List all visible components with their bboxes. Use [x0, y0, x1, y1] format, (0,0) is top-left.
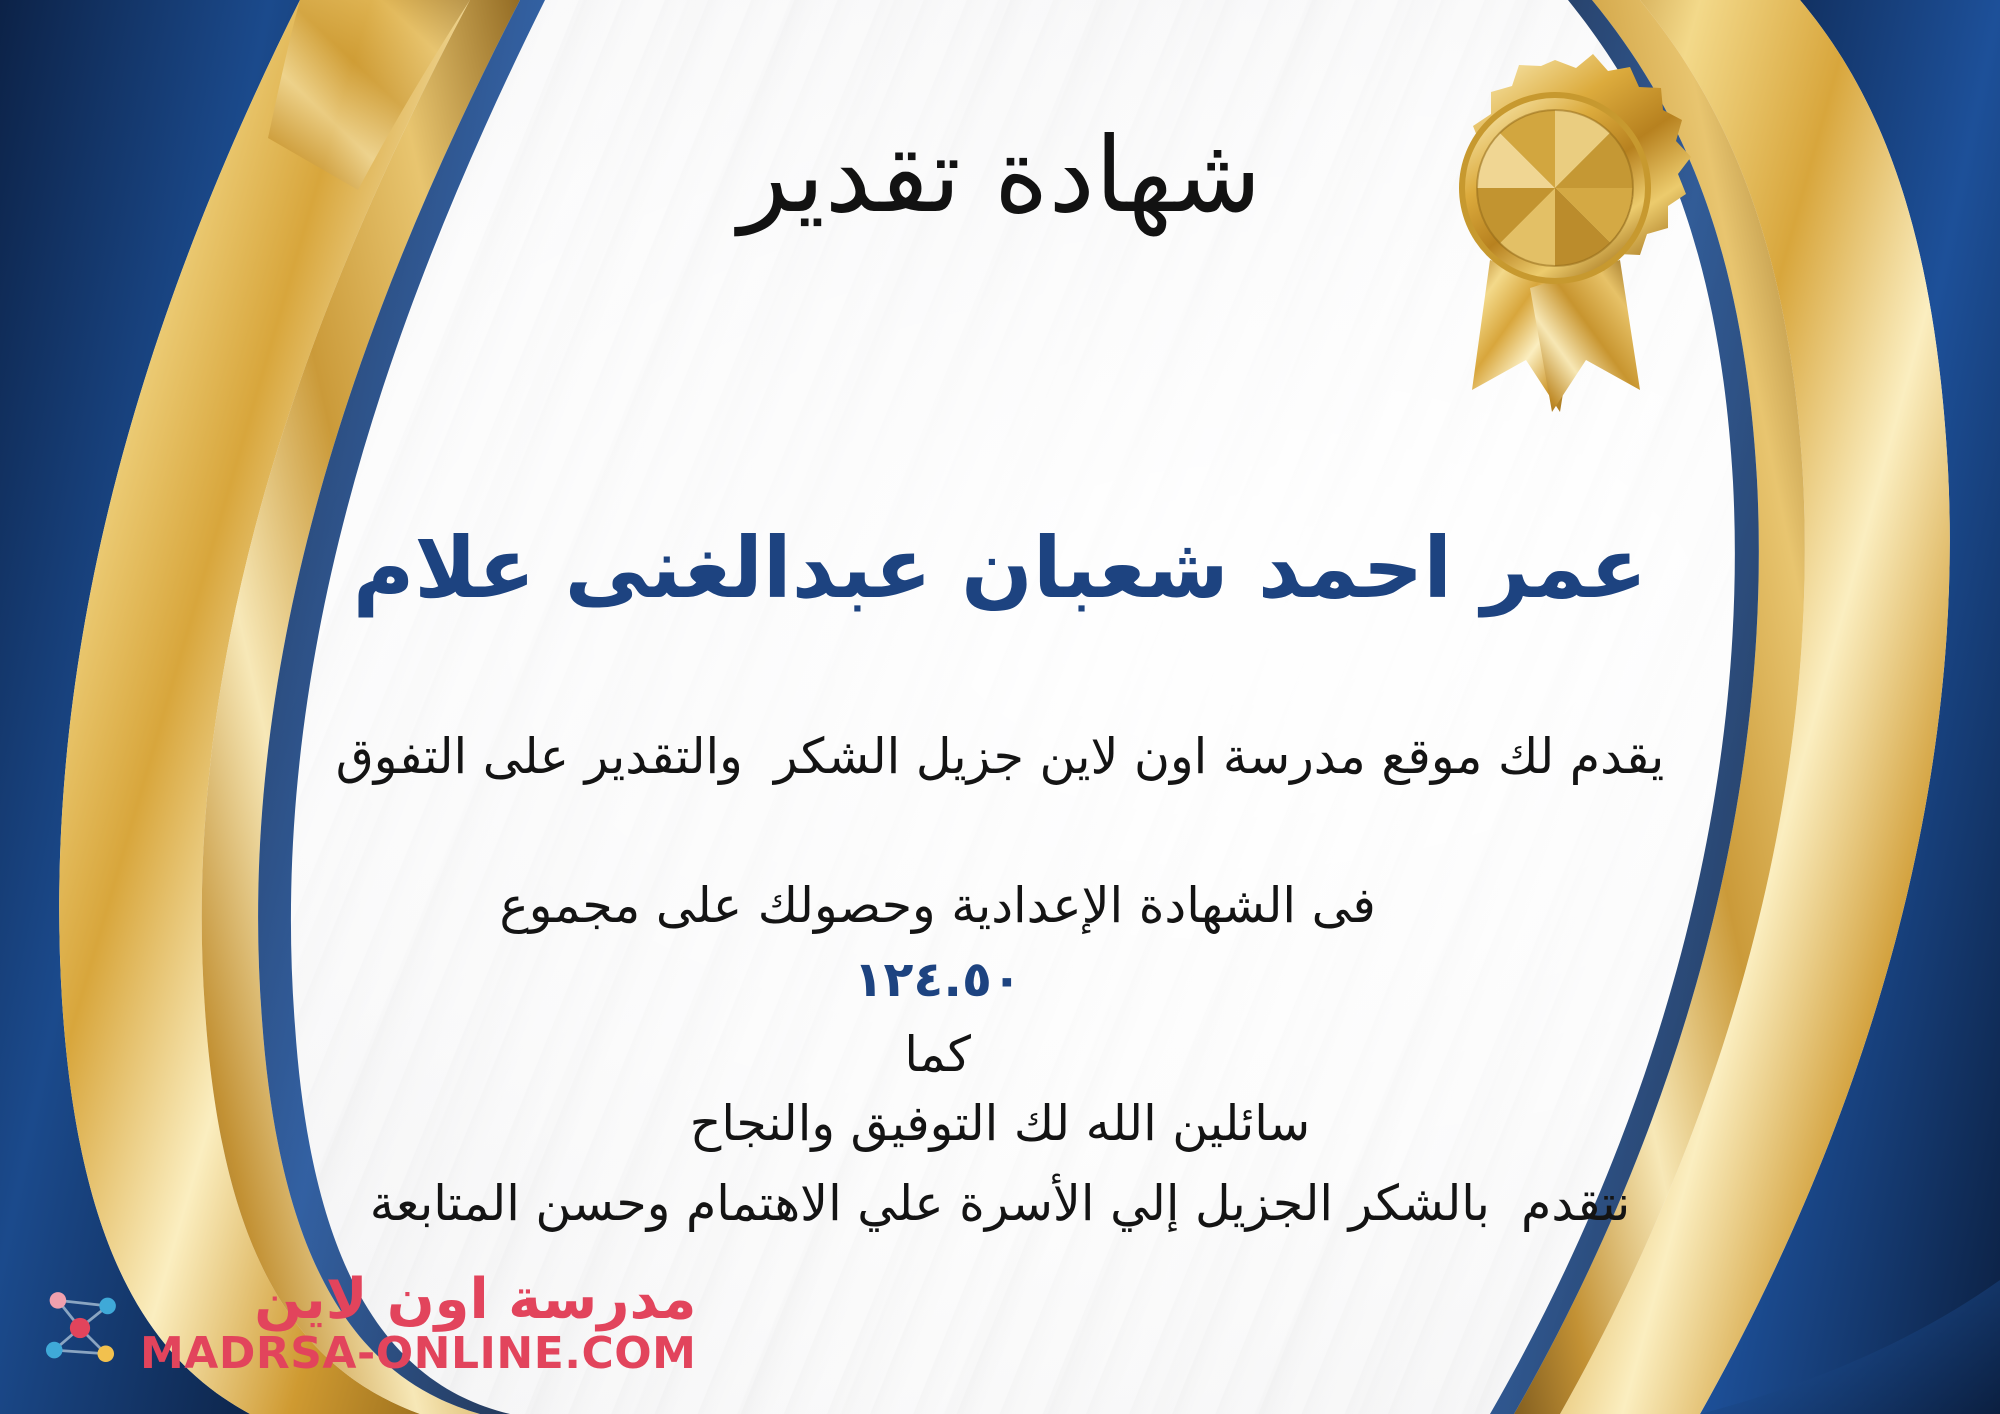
- certificate-canvas: شهادة تقدير عمر احمد شعبان عبدالغنى علام…: [0, 0, 2000, 1414]
- body-line-1: يقدم لك موقع مدرسة اون لاين جزيل الشكر و…: [150, 720, 1850, 794]
- score-value: ١٢٤.٥٠: [854, 951, 1022, 1008]
- brand-name-english: MADRSA-ONLINE.COM: [140, 1330, 696, 1378]
- brand-logo[interactable]: مدرسة اون لاين MADRSA-ONLINE.COM: [34, 1271, 696, 1378]
- body-line-2-prefix: فى الشهادة الإعدادية وحصولك على مجموع: [500, 877, 1376, 934]
- certificate-body: يقدم لك موقع مدرسة اون لاين جزيل الشكر و…: [150, 720, 1850, 1241]
- body-line-3: نتقدم بالشكر الجزيل إلي الأسرة علي الاهت…: [150, 1167, 1850, 1241]
- certificate-content: شهادة تقدير عمر احمد شعبان عبدالغنى علام…: [0, 0, 2000, 1414]
- recipient-name: عمر احمد شعبان عبدالغنى علام: [0, 520, 2000, 617]
- brand-name-arabic: مدرسة اون لاين: [254, 1271, 696, 1330]
- brand-text: مدرسة اون لاين MADRSA-ONLINE.COM: [140, 1271, 696, 1378]
- body-line-2-suffix: كما: [904, 1026, 971, 1083]
- certificate-title: شهادة تقدير: [0, 118, 2000, 232]
- closing-line: سائلين الله لك التوفيق والنجاح: [0, 1095, 2000, 1152]
- network-nodes-icon: [34, 1282, 126, 1374]
